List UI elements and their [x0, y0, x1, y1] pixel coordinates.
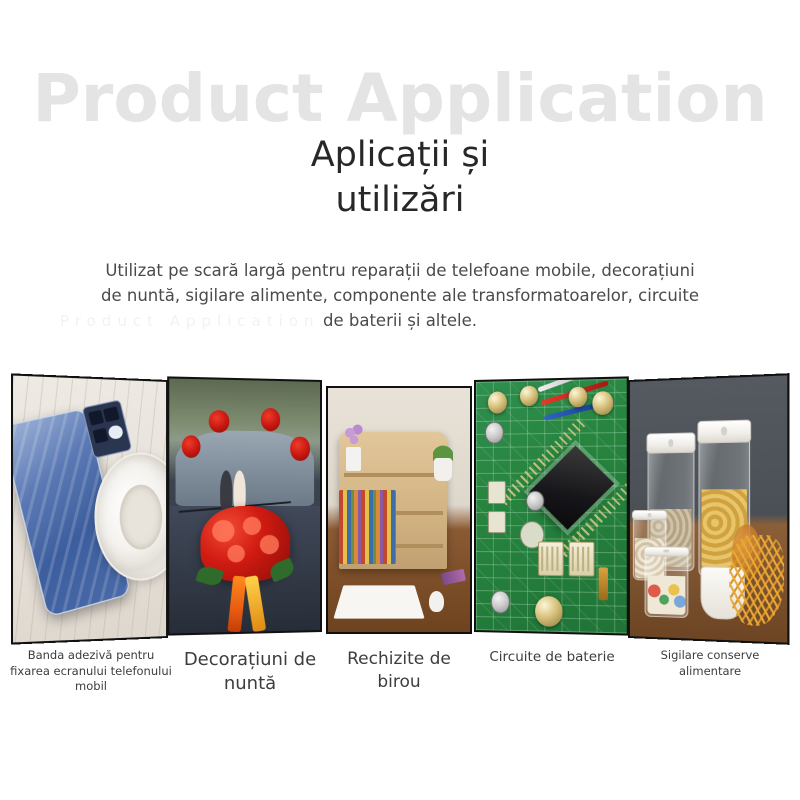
ribbon-connector	[538, 541, 564, 576]
rose-decoration	[291, 436, 310, 461]
gallery-panel-food-sealing[interactable]	[628, 373, 789, 645]
gallery-panel-wedding[interactable]	[167, 376, 322, 635]
storage-jar-cereal	[645, 550, 688, 618]
gallery-panel-phone-repair[interactable]	[11, 373, 168, 644]
solder-pad	[488, 481, 506, 503]
solder-joint	[520, 386, 538, 406]
rose-decoration	[261, 408, 280, 431]
dried-noodles	[729, 535, 784, 626]
caption-battery-circuit: Circuite de baterie	[478, 648, 626, 666]
bride-figurine	[234, 471, 246, 511]
watermark-title: Product Application	[0, 66, 800, 132]
rose-decoration	[182, 435, 200, 458]
book-row	[339, 490, 396, 563]
solder-joint	[535, 596, 562, 627]
potted-plant	[430, 437, 456, 481]
capacitor	[485, 421, 504, 444]
caption-phone-repair: Banda adezivă pentru fixarea ecranului t…	[8, 648, 174, 695]
circuit-board-icon	[476, 378, 627, 633]
gallery-panel-office[interactable]	[326, 386, 472, 634]
solder-pad	[488, 511, 506, 533]
capacitor	[526, 491, 544, 511]
gallery-panel-battery-circuit[interactable]	[474, 376, 629, 635]
rose-decoration	[209, 410, 229, 433]
gallery-captions: Banda adezivă pentru fixarea ecranului t…	[0, 648, 800, 718]
groom-figurine	[220, 471, 232, 511]
flower-vase	[342, 422, 365, 471]
product-application-page: Product Application Aplicații și utiliză…	[0, 0, 800, 800]
caption-food-sealing: Sigilare conserve alimentare	[632, 648, 788, 679]
application-gallery	[0, 380, 800, 650]
background-watermark-band: Product Application	[60, 312, 750, 346]
small-phone	[441, 569, 466, 586]
caption-wedding: Decorațiuni de nuntă	[176, 648, 324, 697]
desk-organizer-icon	[328, 388, 470, 632]
food-container-icon	[630, 375, 787, 642]
page-header: Product Application Aplicații și utiliză…	[0, 0, 800, 240]
page-title-line-2: utilizări	[0, 178, 800, 223]
caption-office: Rechizite de birou	[326, 648, 472, 694]
mousepad	[334, 586, 425, 619]
resistor	[599, 567, 608, 600]
wedding-car-icon	[169, 378, 320, 633]
computer-mouse	[429, 591, 445, 613]
solder-joint	[568, 387, 586, 408]
page-title-line-1: Aplicații și	[0, 133, 800, 178]
smartphone-tape-icon	[13, 376, 166, 643]
capacitor	[491, 591, 510, 614]
ribbon-connector	[568, 541, 594, 577]
page-title: Aplicații și utilizări	[0, 133, 800, 223]
solder-joint	[593, 392, 613, 415]
